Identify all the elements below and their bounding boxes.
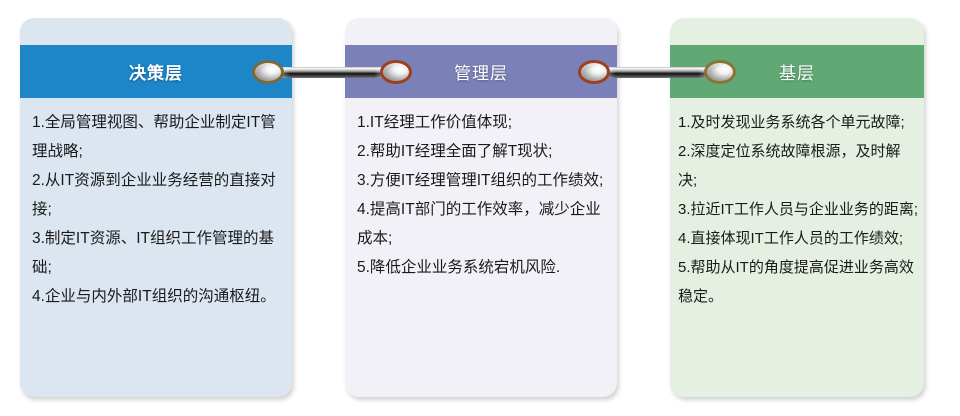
list-item: 4.企业与内外部IT组织的沟通枢纽。 [32, 282, 280, 311]
list-item: 2.帮助IT经理全面了解T现状; [357, 137, 605, 166]
list-item: 3.拉近IT工作人员与企业业务的距离; [678, 195, 918, 224]
connector-ring-right-icon [380, 60, 412, 84]
list-item: 4.提高IT部门的工作效率，减少企业成本; [357, 195, 605, 253]
list-item: 2.深度定位系统故障根源，及时解决; [678, 137, 918, 195]
list-item: 1.IT经理工作价值体现; [357, 108, 605, 137]
connector-ring-left-icon [578, 60, 610, 84]
connector-bar-icon [596, 67, 718, 78]
connector-management-to-base [578, 60, 736, 84]
connector-bar-icon [270, 67, 394, 78]
list-item: 2.从IT资源到企业业务经营的直接对接; [32, 166, 280, 224]
diagram-canvas: 决策层 1.全局管理视图、帮助企业制定IT管理战略; 2.从IT资源到企业业务经… [0, 0, 960, 416]
card-title-base-layer: 基层 [779, 59, 815, 84]
card-body-management-layer: 1.IT经理工作价值体现; 2.帮助IT经理全面了解T现状; 3.方便IT经理管… [345, 98, 617, 282]
card-title-decision-layer: 决策层 [129, 59, 183, 84]
list-item: 5.帮助从IT的角度提高促进业务高效稳定。 [678, 253, 918, 311]
connector-decision-to-management [252, 60, 412, 84]
list-item: 1.及时发现业务系统各个单元故障; [678, 108, 918, 137]
connector-ring-right-icon [704, 60, 736, 84]
connector-ring-left-icon [252, 60, 284, 84]
list-item: 1.全局管理视图、帮助企业制定IT管理战略; [32, 108, 280, 166]
list-item: 3.制定IT资源、IT组织工作管理的基础; [32, 224, 280, 282]
card-body-base-layer: 1.及时发现业务系统各个单元故障; 2.深度定位系统故障根源，及时解决; 3.拉… [670, 98, 924, 311]
list-item: 5.降低企业业务系统宕机风险. [357, 253, 605, 282]
card-body-decision-layer: 1.全局管理视图、帮助企业制定IT管理战略; 2.从IT资源到企业业务经营的直接… [20, 98, 292, 311]
card-title-management-layer: 管理层 [454, 59, 508, 84]
list-item: 4.直接体现IT工作人员的工作绩效; [678, 224, 918, 253]
list-item: 3.方便IT经理管理IT组织的工作绩效; [357, 166, 605, 195]
